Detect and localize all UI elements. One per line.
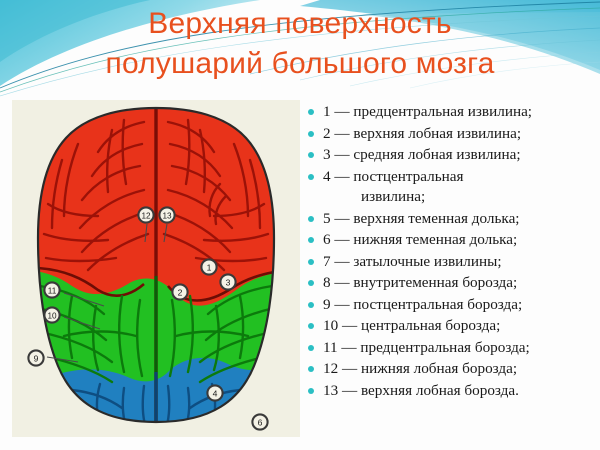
title-line-1: Верхняя поверхность <box>148 4 451 44</box>
slide-canvas: Верхняя поверхность полушарий большого м… <box>0 0 600 450</box>
legend-item-text: 1 — предцентральная извилина; <box>323 102 532 123</box>
brain-marker-label-12: 12 <box>141 212 151 221</box>
brain-figure-panel: 1 2 3 4 5 <box>12 100 300 437</box>
title-line-2: полушарий большого мозга <box>106 44 495 84</box>
legend-item-text: 5 — верхняя теменная долька; <box>323 209 520 230</box>
bullet-icon <box>308 323 314 329</box>
legend-item-text: 13 — верхняя лобная борозда. <box>323 381 519 402</box>
legend-item-text: 3 — средняя лобная извилина; <box>323 145 521 166</box>
legend-item-7: 7 — затылочные извилины; <box>305 252 595 273</box>
legend-list: 1 — предцентральная извилина; 2 — верхня… <box>305 102 595 402</box>
legend-item-13: 13 — верхняя лобная борозда. <box>305 381 595 402</box>
brain-marker-label-6: 6 <box>258 418 263 428</box>
bullet-icon <box>308 366 314 372</box>
brain-marker-label-1: 1 <box>207 263 212 273</box>
bullet-icon <box>308 152 314 158</box>
bullet-icon <box>308 280 314 286</box>
legend-item-3: 3 — средняя лобная извилина; <box>305 145 595 166</box>
bullet-icon <box>308 259 314 265</box>
legend-item-9: 9 — постцентральная борозда; <box>305 295 595 316</box>
brain-marker-12[interactable]: 12 <box>138 207 153 222</box>
brain-marker-label-2: 2 <box>178 288 183 298</box>
legend-item-6: 6 — нижняя теменная долька; <box>305 230 595 251</box>
legend-item-2: 2 — верхняя лобная извилина; <box>305 124 595 145</box>
legend-item-8: 8 — внутритеменная борозда; <box>305 273 595 294</box>
brain-marker-label-11: 11 <box>48 287 57 296</box>
brain-marker-label-10: 10 <box>47 312 57 321</box>
legend-item-text: 7 — затылочные извилины; <box>323 252 502 273</box>
bullet-icon <box>308 174 314 180</box>
legend-item-text: 9 — постцентральная борозда; <box>323 295 522 316</box>
brain-marker-label-13: 13 <box>162 212 172 221</box>
bullet-icon <box>308 109 314 115</box>
brain-marker-13[interactable]: 13 <box>159 207 174 222</box>
brain-superior-view-diagram: 1 2 3 4 5 <box>12 100 300 437</box>
brain-marker-1[interactable]: 1 <box>201 259 216 274</box>
legend-item-text: 11 — предцентральная борозда; <box>323 338 530 359</box>
bullet-icon <box>308 345 314 351</box>
brain-marker-11[interactable]: 11 <box>44 282 59 297</box>
legend-item-10: 10 — центральная борозда; <box>305 316 595 337</box>
legend-item-text: 12 — нижняя лобная борозда; <box>323 359 517 380</box>
brain-marker-9[interactable]: 9 <box>28 350 43 365</box>
brain-marker-10[interactable]: 10 <box>44 307 59 322</box>
brain-marker-2[interactable]: 2 <box>172 284 187 299</box>
legend-item-text: 10 — центральная борозда; <box>323 316 500 337</box>
brain-marker-label-9: 9 <box>34 354 39 364</box>
bullet-icon <box>308 237 314 243</box>
legend-item-text: 2 — верхняя лобная извилина; <box>323 124 521 145</box>
brain-marker-3[interactable]: 3 <box>220 274 235 289</box>
brain-marker-6[interactable]: 6 <box>252 414 267 429</box>
legend-item-text: 6 — нижняя теменная долька; <box>323 230 517 251</box>
legend-item-text: 4 — постцентральная извилина; <box>323 167 464 208</box>
bullet-icon <box>308 131 314 137</box>
bullet-icon <box>308 216 314 222</box>
brain-marker-4[interactable]: 4 <box>207 385 222 400</box>
legend-item-1: 1 — предцентральная извилина; <box>305 102 595 123</box>
legend-item-11: 11 — предцентральная борозда; <box>305 338 595 359</box>
bullet-icon <box>308 302 314 308</box>
brain-marker-label-4: 4 <box>213 389 218 399</box>
legend-item-4: 4 — постцентральная извилина; <box>305 167 595 208</box>
bullet-icon <box>308 388 314 394</box>
legend-item-5: 5 — верхняя теменная долька; <box>305 209 595 230</box>
legend-item-text: 8 — внутритеменная борозда; <box>323 273 517 294</box>
slide-title: Верхняя поверхность полушарий большого м… <box>0 4 600 100</box>
brain-marker-label-3: 3 <box>226 278 231 288</box>
legend-item-12: 12 — нижняя лобная борозда; <box>305 359 595 380</box>
